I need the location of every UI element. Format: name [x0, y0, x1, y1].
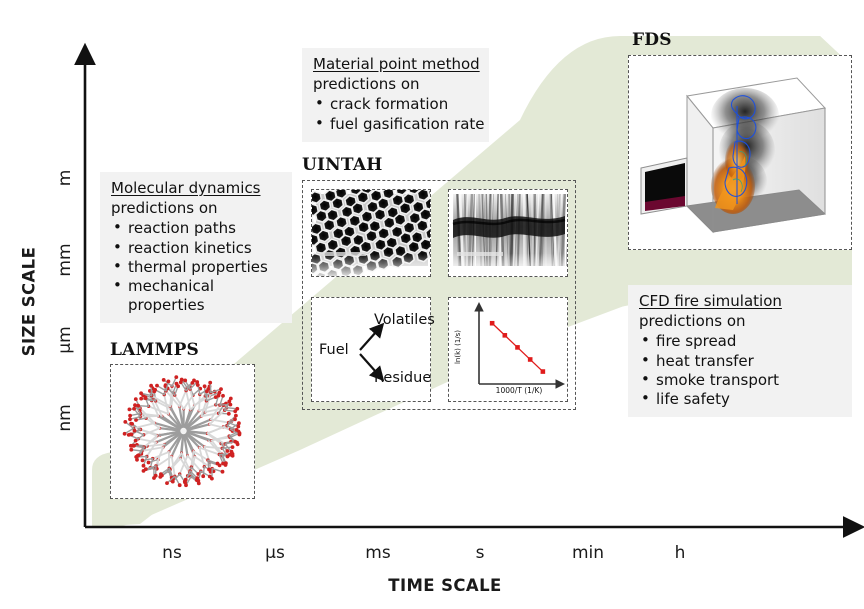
x-tick-ns: ns [142, 543, 202, 563]
panel-list: fire spread heat transfer smoke transpor… [639, 332, 842, 409]
list-item: fuel gasification rate [313, 115, 479, 134]
panel-title: CFD fire simulation [639, 292, 842, 311]
list-item: thermal properties [111, 258, 282, 277]
list-item: fire spread [639, 332, 842, 351]
reaction-product-bottom: Residue [374, 370, 431, 386]
tool-label-lammps: LAMMPS [110, 340, 199, 360]
tool-label-uintah: UINTAH [302, 155, 383, 175]
y-axis-title: SIZE SCALE [20, 227, 39, 377]
tool-label-fds: FDS [632, 30, 672, 50]
reaction-scheme-frame: Fuel Volatiles Residue [311, 297, 431, 402]
panel-subtitle: predictions on [313, 75, 479, 94]
y-tick-m: m [55, 143, 75, 213]
x-tick-h: h [650, 543, 710, 563]
y-tick-nm: nm [55, 383, 75, 453]
x-tick-ms: ms [348, 543, 408, 563]
x-tick-min: min [558, 543, 618, 563]
panel-molecular-dynamics: Molecular dynamics predictions on reacti… [100, 172, 292, 323]
panel-cfd-fire-simulation: CFD fire simulation predictions on fire … [628, 285, 852, 417]
x-axis-title: TIME SCALE [330, 576, 560, 595]
panel-title: Molecular dynamics [111, 179, 282, 198]
list-item: smoke transport [639, 371, 842, 390]
panel-list: reaction paths reaction kinetics thermal… [111, 219, 282, 315]
image-frame-sem-honeycomb [311, 189, 431, 277]
panel-subtitle: predictions on [111, 199, 282, 218]
panel-title: Material point method [313, 55, 479, 74]
list-item: reaction kinetics [111, 239, 282, 258]
panel-subtitle: predictions on [639, 312, 842, 331]
x-tick-us: µs [245, 543, 305, 563]
chart-x-axis-label: 1000/T (1/K) [474, 386, 564, 395]
list-item: mechanical properties [111, 277, 282, 315]
reaction-product-top: Volatiles [374, 312, 435, 328]
list-item: crack formation [313, 95, 479, 114]
sem-char-image [449, 190, 567, 276]
chart-y-axis-label: ln(k) (1/s) [454, 317, 462, 377]
list-item: life safety [639, 390, 842, 409]
panel-material-point-method: Material point method predictions on cra… [302, 48, 489, 142]
lammps-structure-image [111, 365, 254, 498]
list-item: reaction paths [111, 219, 282, 238]
fds-compartment-fire-image [629, 56, 851, 249]
list-item: heat transfer [639, 352, 842, 371]
panel-list: crack formation fuel gasification rate [313, 95, 479, 133]
image-frame-lammps [110, 364, 255, 499]
arrhenius-chart-frame: ln(k) (1/s) 1000/T (1/K) [448, 297, 568, 402]
image-frame-sem-char [448, 189, 568, 277]
y-tick-um: µm [55, 305, 75, 375]
sem-honeycomb-image [312, 190, 430, 276]
y-tick-mm: mm [55, 225, 75, 295]
reaction-reactant: Fuel [319, 342, 349, 358]
image-frame-fds [628, 55, 852, 250]
x-tick-s: s [450, 543, 510, 563]
